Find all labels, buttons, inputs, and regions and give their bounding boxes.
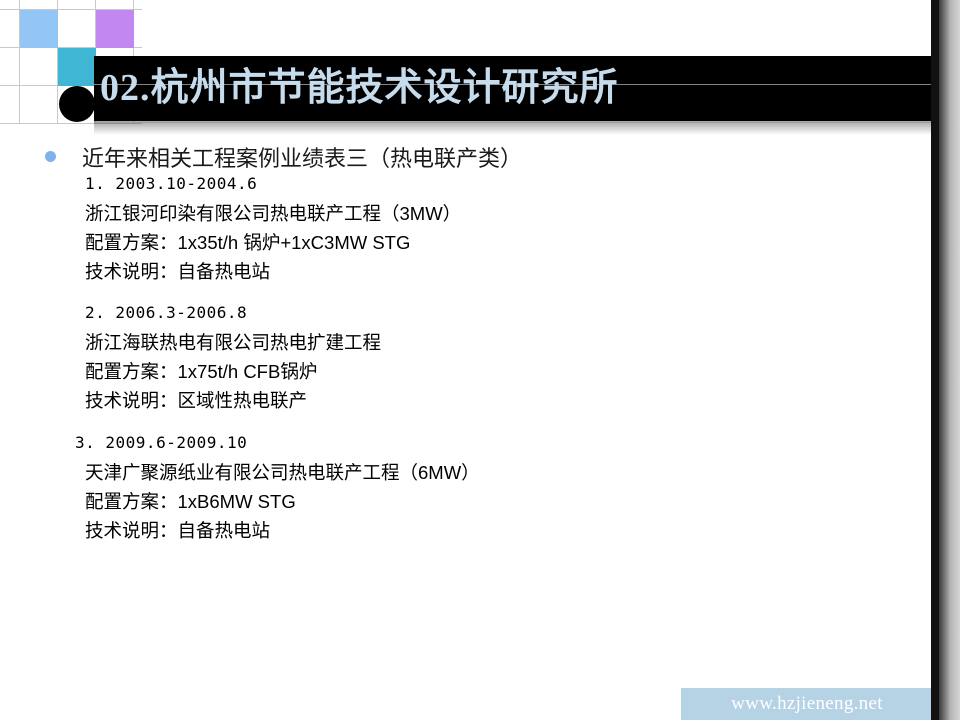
entry-number: 1. 2003.10-2004.6 [85,174,461,193]
decor-square-blue [20,10,58,48]
entry-project: 天津广聚源纸业有限公司热电联产工程（6MW） [75,458,480,487]
entry-config: 配置方案：1x35t/h 锅炉+1xC3MW STG [85,228,461,257]
lead-heading: 近年来相关工程案例业绩表三（热电联产类） [82,141,522,173]
slide-canvas: 02.杭州市节能技术设计研究所 近年来相关工程案例业绩表三（热电联产类） 1. … [0,0,960,720]
decor-circle-black [59,86,95,122]
entry-project: 浙江银河印染有限公司热电联产工程（3MW） [85,199,461,228]
entry-note: 技术说明：自备热电站 [75,516,480,545]
slide-edge-gradient [939,0,960,720]
entry-config: 配置方案：1xB6MW STG [75,487,480,516]
grid-line-over-bar [94,122,937,123]
lead-bullet-row: 近年来相关工程案例业绩表三（热电联产类） [0,128,933,162]
project-entry: 1. 2003.10-2004.6 浙江银河印染有限公司热电联产工程（3MW） … [85,174,461,286]
slide-edge-shadow [931,0,939,720]
entry-project: 浙江海联热电有限公司热电扩建工程 [85,328,381,357]
project-entry: 3. 2009.6-2009.10 天津广聚源纸业有限公司热电联产工程（6MW）… [75,433,480,545]
project-entry: 2. 2006.3-2006.8 浙江海联热电有限公司热电扩建工程 配置方案：1… [85,303,381,415]
slide-body: 近年来相关工程案例业绩表三（热电联产类） 1. 2003.10-2004.6 浙… [0,128,933,162]
entry-note: 技术说明：区域性热电联产 [85,386,381,415]
entry-number: 3. 2009.6-2009.10 [75,433,480,452]
footer-bar: www.hzjieneng.net [681,688,933,720]
entry-config: 配置方案：1x75t/h CFB锅炉 [85,357,381,386]
page-title: 02.杭州市节能技术设计研究所 [100,56,940,121]
entry-number: 2. 2006.3-2006.8 [85,303,381,322]
bullet-icon [45,151,56,162]
footer-url[interactable]: www.hzjieneng.net [681,688,933,720]
entry-note: 技术说明：自备热电站 [85,257,461,286]
decor-square-purple [96,10,134,48]
decor-square-teal [58,48,96,86]
